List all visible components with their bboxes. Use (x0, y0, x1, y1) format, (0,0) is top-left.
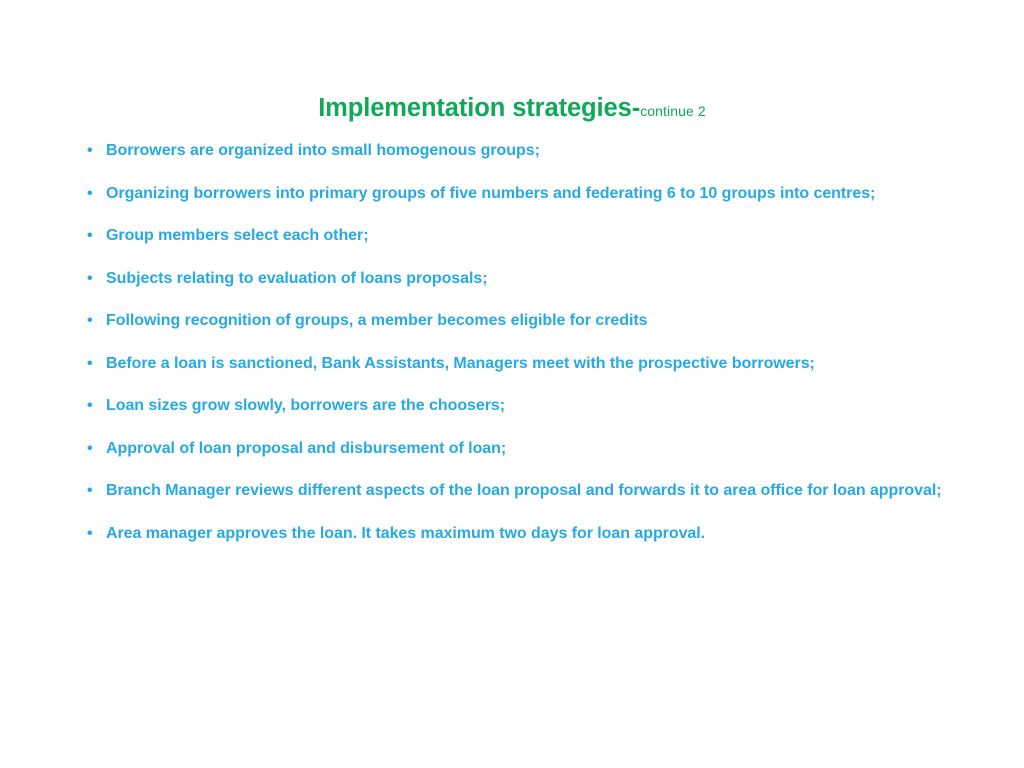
list-item: • Area manager approves the loan. It tak… (80, 523, 970, 545)
list-item-text: Loan sizes grow slowly, borrowers are th… (106, 395, 970, 417)
list-item-text: Subjects relating to evaluation of loans… (106, 268, 970, 290)
slide-title-dash: - (632, 94, 641, 122)
slide-title-continuation: continue 2 (640, 103, 706, 119)
bullet-dot-icon: • (87, 268, 97, 290)
list-item-text: Following recognition of groups, a membe… (106, 310, 970, 332)
list-item: • Following recognition of groups, a mem… (80, 310, 970, 332)
list-item-text: Group members select each other; (106, 225, 970, 247)
list-item-text: Organizing borrowers into primary groups… (106, 183, 970, 205)
bullet-dot-icon: • (87, 438, 97, 460)
list-item-text: Branch Manager reviews different aspects… (106, 480, 970, 502)
list-item: • Approval of loan proposal and disburse… (80, 438, 970, 460)
list-item: • Borrowers are organized into small hom… (80, 140, 970, 162)
slide-title-main: Implementation strategies (318, 94, 632, 122)
presentation-slide: Implementation strategies-continue 2 • B… (0, 0, 1024, 768)
list-item-text: Area manager approves the loan. It takes… (106, 523, 970, 545)
bullet-dot-icon: • (87, 183, 97, 205)
list-item-text: Borrowers are organized into small homog… (106, 140, 970, 162)
slide-title: Implementation strategies-continue 2 (0, 96, 1024, 122)
list-item: • Before a loan is sanctioned, Bank Assi… (80, 353, 970, 375)
list-item: • Subjects relating to evaluation of loa… (80, 268, 970, 290)
list-item: • Organizing borrowers into primary grou… (80, 183, 970, 205)
bullet-dot-icon: • (87, 225, 97, 247)
bullet-dot-icon: • (87, 395, 97, 417)
list-item: • Branch Manager reviews different aspec… (80, 480, 970, 502)
list-item-text: Approval of loan proposal and disburseme… (106, 438, 970, 460)
bullet-list: • Borrowers are organized into small hom… (80, 140, 970, 545)
list-item-text: Before a loan is sanctioned, Bank Assist… (106, 353, 970, 375)
list-item: • Group members select each other; (80, 225, 970, 247)
bullet-dot-icon: • (87, 140, 97, 162)
bullet-dot-icon: • (87, 310, 97, 332)
bullet-dot-icon: • (87, 480, 97, 502)
list-item: • Loan sizes grow slowly, borrowers are … (80, 395, 970, 417)
bullet-dot-icon: • (87, 523, 97, 545)
bullet-dot-icon: • (87, 353, 97, 375)
